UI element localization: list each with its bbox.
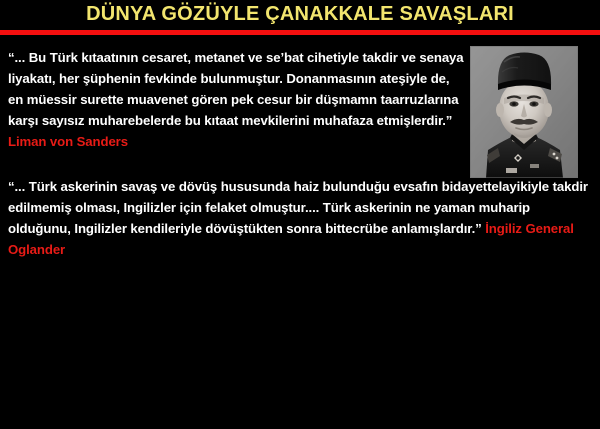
slide-canvas: DÜNYA GÖZÜYLE ÇANAKKALE SAVAŞLARI bbox=[0, 0, 600, 429]
quote-block-ingiliz-general-oglander: “... Türk askerinin savaş ve dövüş husus… bbox=[8, 176, 588, 260]
page-title: DÜNYA GÖZÜYLE ÇANAKKALE SAVAŞLARI bbox=[0, 2, 600, 27]
header-band: DÜNYA GÖZÜYLE ÇANAKKALE SAVAŞLARI bbox=[0, 0, 600, 30]
quote-block-liman-von-sanders: “... Bu Türk kıtaatının cesaret, metanet… bbox=[8, 47, 466, 152]
header-divider-rule bbox=[0, 30, 600, 35]
quote-attribution: Liman von Sanders bbox=[8, 134, 128, 149]
officer-portrait-photo bbox=[470, 46, 578, 178]
portrait-illustration bbox=[470, 46, 578, 178]
quote-text: “... Bu Türk kıtaatının cesaret, metanet… bbox=[8, 50, 464, 128]
